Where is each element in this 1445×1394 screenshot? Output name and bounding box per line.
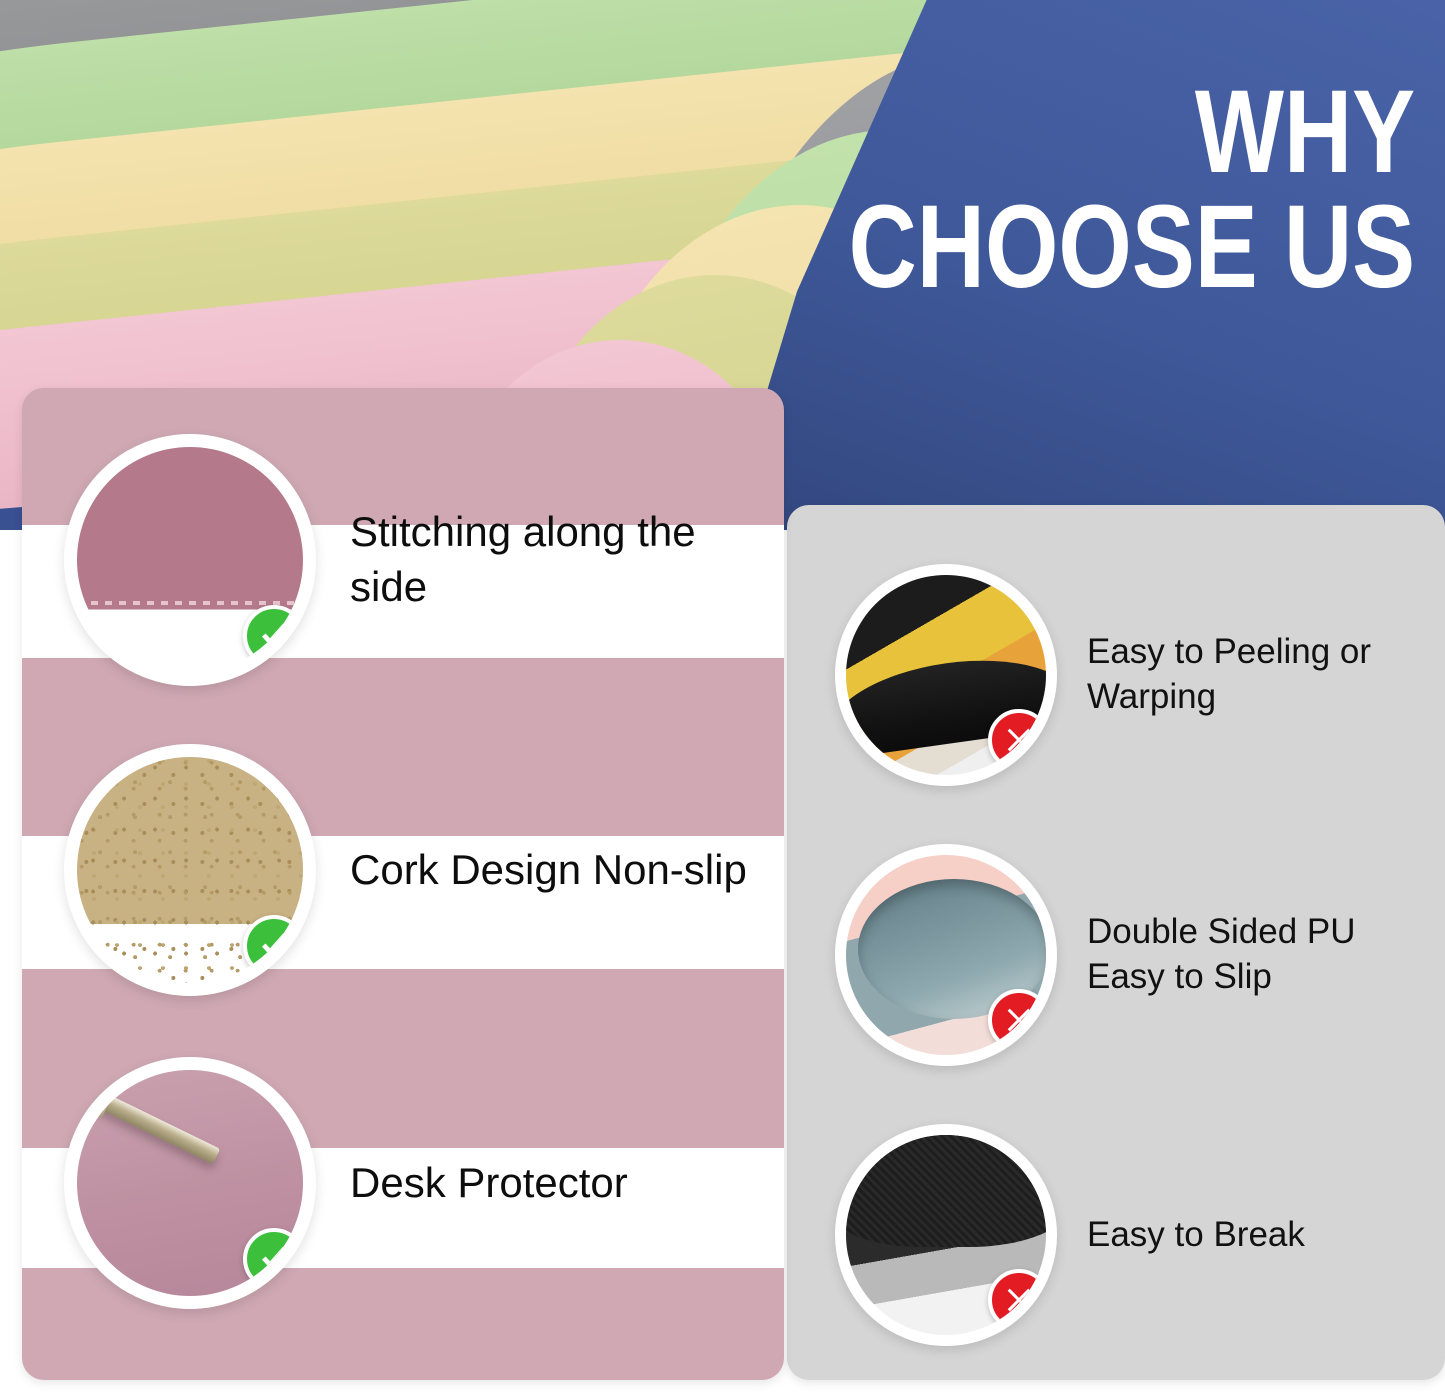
pros-item: Desk Protector — [22, 1033, 784, 1333]
cross-icon — [988, 709, 1050, 771]
cons-item-label: Easy to Break — [1057, 1213, 1445, 1258]
check-icon — [243, 1228, 305, 1290]
pros-panel: Stitching along the side Cork Design Non… — [22, 388, 784, 1380]
cons-item-label: Easy to Peeling or Warping — [1057, 630, 1445, 720]
pros-item: Cork Design Non-slip — [22, 720, 784, 1020]
check-icon — [243, 915, 305, 977]
cons-item-image-double-sided-pu — [835, 844, 1057, 1066]
cons-item: Easy to Peeling or Warping — [787, 545, 1445, 805]
pros-item-image-desk-protector — [64, 1057, 316, 1309]
pros-item-image-cork — [64, 744, 316, 996]
cons-item: Double Sided PU Easy to Slip — [787, 825, 1445, 1085]
pros-item-image-stitching — [64, 434, 316, 686]
cons-item-label: Double Sided PU Easy to Slip — [1057, 910, 1445, 1000]
cons-panel: Easy to Peeling or Warping Double Sided … — [787, 505, 1445, 1380]
page-title-line-1: WHY — [849, 78, 1416, 187]
pros-item-label: Cork Design Non-slip — [316, 843, 784, 898]
cons-item: Easy to Break — [787, 1105, 1445, 1365]
pros-item: Stitching along the side — [22, 410, 784, 710]
cons-item-image-peeling — [835, 564, 1057, 786]
pros-item-label: Desk Protector — [316, 1156, 784, 1211]
cons-item-image-break — [835, 1124, 1057, 1346]
check-icon — [243, 605, 305, 667]
cross-icon — [988, 1269, 1050, 1331]
cross-icon — [988, 989, 1050, 1051]
page-title: WHY CHOOSE US — [707, 78, 1415, 301]
pros-item-label: Stitching along the side — [316, 505, 784, 614]
metal-pen-icon — [98, 1093, 220, 1164]
page-title-line-2: CHOOSE US — [849, 193, 1416, 302]
